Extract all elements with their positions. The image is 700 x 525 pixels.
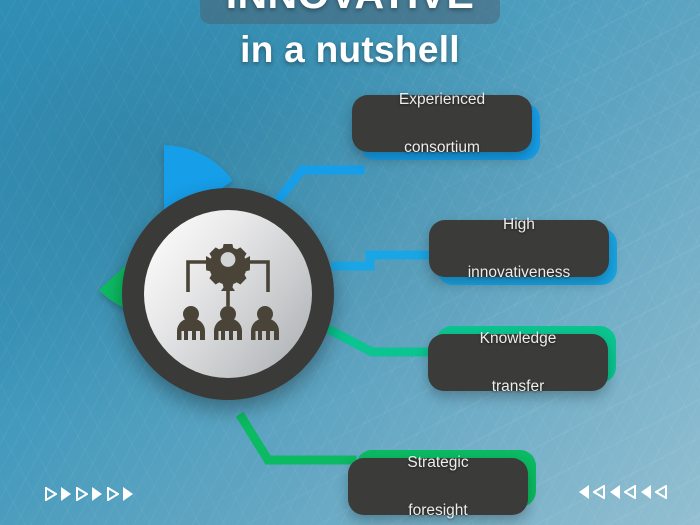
card-line2: foresight (391, 499, 484, 523)
triangle-left-filled-icon (579, 485, 589, 499)
connector-line-4 (242, 418, 352, 460)
card-line2: innovativeness (452, 261, 587, 285)
card-line1: High (452, 213, 587, 237)
team-gear-process-icon (168, 236, 288, 346)
triangle-right-filled-icon (61, 487, 71, 501)
center-hub[interactable] (122, 188, 334, 400)
connector-line-2 (336, 255, 432, 266)
triangle-right-outline-icon (75, 487, 88, 501)
triangle-left-outline-icon (593, 485, 606, 499)
connector-line-3 (330, 330, 432, 352)
card-experienced-consortium[interactable]: Experienced consortium (352, 95, 532, 152)
slide-canvas: INNOVATIVE in a nutshell (0, 0, 700, 525)
triangle-right-outline-icon (44, 487, 57, 501)
card-knowledge-transfer[interactable]: Knowledge transfer (428, 334, 608, 391)
card-strategic-foresight[interactable]: Strategic foresight (348, 458, 528, 515)
triangle-left-filled-icon (641, 485, 651, 499)
card-line1: Knowledge (464, 327, 573, 351)
play-arrows-right (44, 487, 133, 501)
card-line2: transfer (464, 375, 573, 399)
card-label: Knowledge transfer (448, 327, 589, 399)
triangle-left-outline-icon (655, 485, 668, 499)
card-line1: Experienced (383, 88, 501, 112)
card-line2: consortium (383, 136, 501, 160)
card-high-innovativeness[interactable]: High innovativeness (429, 220, 609, 277)
triangle-left-filled-icon (610, 485, 620, 499)
play-arrows-left (579, 485, 668, 499)
card-label: Strategic foresight (375, 451, 500, 523)
card-label: High innovativeness (436, 213, 603, 285)
triangle-right-filled-icon (92, 487, 102, 501)
triangle-right-filled-icon (123, 487, 133, 501)
triangle-right-outline-icon (106, 487, 119, 501)
card-line1: Strategic (391, 451, 484, 475)
triangle-left-outline-icon (624, 485, 637, 499)
card-label: Experienced consortium (367, 88, 517, 160)
